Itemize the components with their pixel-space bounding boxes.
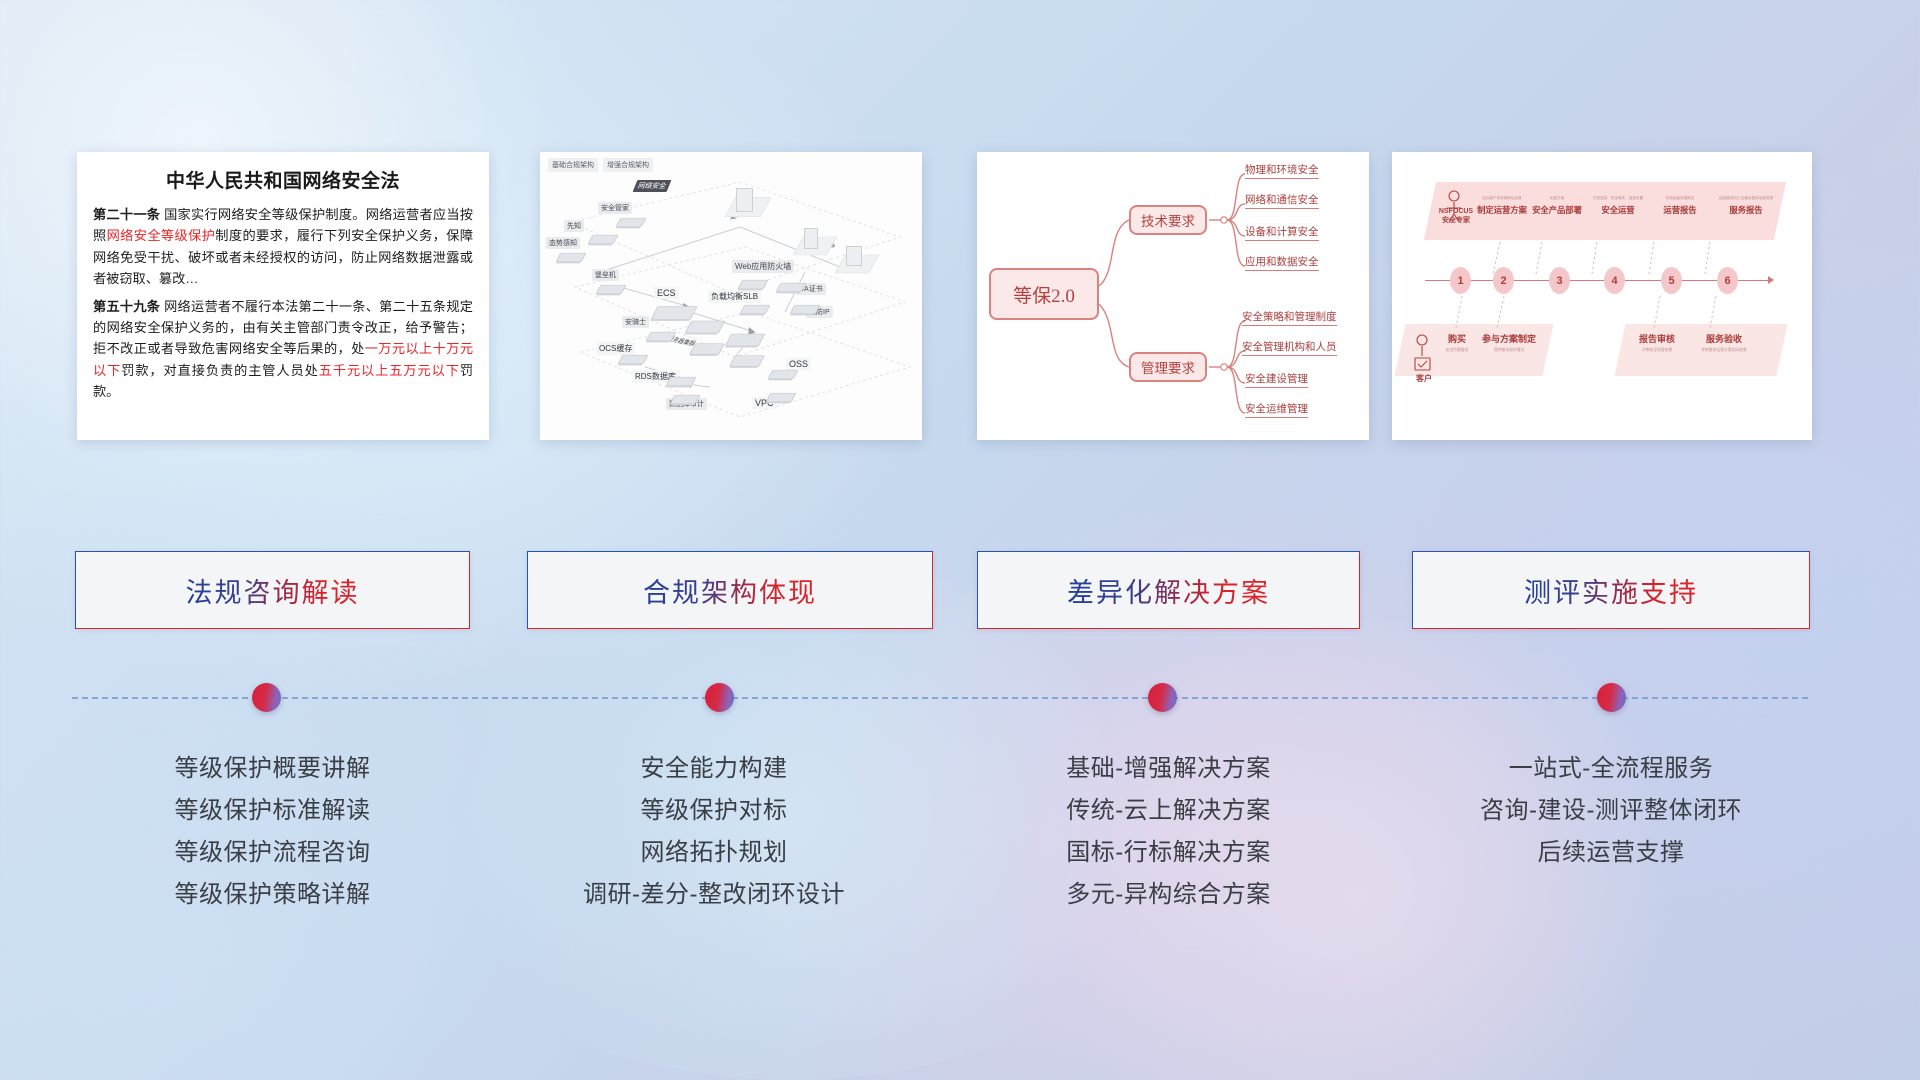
preview-card-mindmap[interactable]: 等保2.0 技术要求 管理要求 物理和环境安全 网络和通信安全 设备和计算安全 … xyxy=(977,152,1369,440)
timeline-arrow-icon xyxy=(1768,276,1774,284)
list-item: 多元-异构综合方案 xyxy=(977,874,1360,916)
section-items-2: 安全能力构建 等级保护对标 网络拓扑规划 调研-差分-整改闭环设计 xyxy=(495,748,933,916)
iso-box-ecs-5 xyxy=(729,355,765,366)
mindmap-leaf-app-data[interactable]: 应用和数据安全 xyxy=(1245,254,1319,271)
section-items-4: 一站式-全流程服务 咨询-建设-测评整体闭环 后续运营支撑 xyxy=(1392,748,1830,874)
timeline-rail-dot-3[interactable] xyxy=(1148,683,1177,712)
architecture-diagram: 基础合规架构 增强合规架构 xyxy=(540,152,922,440)
list-item: 等级保护标准解读 xyxy=(75,790,470,832)
preview-card-architecture[interactable]: 基础合规架构 增强合规架构 xyxy=(540,152,922,440)
section-items-1: 等级保护概要讲解 等级保护标准解读 等级保护流程咨询 等级保护策略详解 xyxy=(75,748,470,916)
preview-card-law[interactable]: 中华人民共和国网络安全法 第二十一条 国家实行网络安全等级保护制度。网络运营者应… xyxy=(77,152,489,440)
mindmap-collapse-toggle-mgmt xyxy=(1221,364,1227,370)
mindmap-diagram: 等保2.0 技术要求 管理要求 物理和环境安全 网络和通信安全 设备和计算安全 … xyxy=(977,152,1369,440)
iso-box-xianzhi xyxy=(588,235,619,244)
mindmap-leaf-ops-mgmt[interactable]: 安全运维管理 xyxy=(1245,401,1308,418)
mindmap-branch-technical[interactable]: 技术要求 xyxy=(1129,205,1207,235)
list-item: 后续运营支撑 xyxy=(1392,832,1830,874)
mindmap-branch-management[interactable]: 管理要求 xyxy=(1129,352,1207,382)
iso-box-ca xyxy=(776,283,807,292)
iso-box-waf xyxy=(738,280,769,289)
timeline-bottom-step-1-title: 购买 xyxy=(1434,332,1480,345)
timeline-bottom-step-2[interactable]: 参与方案制定 提供基本现状情况 xyxy=(1476,332,1542,353)
iso-box-ecs xyxy=(650,306,697,320)
iso-box-anqishi xyxy=(646,332,677,341)
timeline-top-step-6[interactable]: 结束服务后汇总输出整体运营效果 服务报告 xyxy=(1704,196,1788,216)
section-title-box-4[interactable]: 测评实施支持 xyxy=(1412,551,1810,629)
mindmap-leaf-policy-system[interactable]: 安全策略和管理制度 xyxy=(1242,309,1337,326)
iso-box-butler xyxy=(616,218,647,227)
list-item: 调研-差分-整改闭环设计 xyxy=(495,874,933,916)
mindmap-collapse-toggle-tech xyxy=(1221,217,1227,223)
list-item: 安全能力构建 xyxy=(495,748,933,790)
section-title-box-2[interactable]: 合规架构体现 xyxy=(527,551,933,629)
timeline-bottom-step-1-caption: 安全所需服务 xyxy=(1434,348,1480,353)
law-document: 中华人民共和国网络安全法 第二十一条 国家实行网络安全等级保护制度。网络运营者应… xyxy=(77,152,489,418)
list-item: 网络拓扑规划 xyxy=(495,832,933,874)
list-item: 基础-增强解决方案 xyxy=(977,748,1360,790)
service-timeline-diagram: NSFOCUS 安全专家 客户 结合客户现状调研后出具 制定运营方案 实施方案 … xyxy=(1392,152,1812,440)
law-article-21: 第二十一条 国家实行网络安全等级保护制度。网络运营者应当按照网络安全等级保护制度… xyxy=(93,204,473,290)
section-title-box-1[interactable]: 法规咨询解读 xyxy=(75,551,470,629)
timeline-bottom-step-5-caption: 评审安全所需效果 xyxy=(1630,348,1684,353)
section-title-2: 合规架构体现 xyxy=(643,571,817,610)
iso-box-situational xyxy=(556,253,587,262)
list-item: 咨询-建设-测评整体闭环 xyxy=(1392,790,1830,832)
timeline-node-5[interactable]: 5 xyxy=(1661,267,1682,294)
section-title-4: 测评实施支持 xyxy=(1524,571,1698,610)
article-59-highlight-b: 五千元以上五万元以下 xyxy=(319,363,460,378)
section-title-3: 差异化解决方案 xyxy=(1067,571,1270,610)
article-21-highlight: 网络安全等级保护 xyxy=(107,228,216,243)
timeline-bottom-step-5-title: 报告审核 xyxy=(1630,332,1684,345)
iso-box-db-audit xyxy=(670,395,701,404)
node-label-situational-awareness: 态势感知 xyxy=(546,237,580,249)
timeline-rail-dot-2[interactable] xyxy=(705,683,734,712)
timeline-bottom-step-2-caption: 提供基本现状情况 xyxy=(1476,348,1542,353)
timeline-rail xyxy=(72,697,1808,699)
timeline-bottom-step-6[interactable]: 服务验收 评审整体运营方案实际效果 xyxy=(1690,332,1758,353)
iso-box-slb xyxy=(740,305,771,314)
article-59-label: 第五十九条 xyxy=(93,299,160,314)
node-label-slb: 负载均衡SLB xyxy=(708,290,761,303)
timeline-node-2[interactable]: 2 xyxy=(1493,267,1514,294)
iso-box-bastion xyxy=(596,285,627,294)
node-label-security-butler: 安全管家 xyxy=(598,202,632,214)
iso-box-rds xyxy=(666,377,697,386)
node-label-xianzhi: 先知 xyxy=(564,220,584,232)
timeline-node-6[interactable]: 6 xyxy=(1717,267,1738,294)
mindmap-leaf-device-compute[interactable]: 设备和计算安全 xyxy=(1245,224,1319,241)
article-59-body-b: 罚款，对直接负责的主管人员处 xyxy=(121,363,319,378)
law-article-59: 第五十九条 网络运营者不履行本法第二十一条、第二十五条规定的网络安全保护义务的，… xyxy=(93,296,473,403)
node-label-waf: Web应用防火墙 xyxy=(732,260,794,273)
timeline-rail-dot-4[interactable] xyxy=(1597,683,1626,712)
iso-box-ecs-3 xyxy=(689,343,725,354)
article-21-label: 第二十一条 xyxy=(93,207,160,222)
iso-box-ecs-2 xyxy=(685,321,726,333)
timeline-top-step-6-caption: 结束服务后汇总输出整体运营效果 xyxy=(1704,196,1788,201)
mindmap-leaf-physical-env[interactable]: 物理和环境安全 xyxy=(1245,162,1319,179)
mindmap-leaf-org-personnel[interactable]: 安全管理机构和人员 xyxy=(1242,339,1337,356)
node-label-anqishi: 安骑士 xyxy=(622,316,649,328)
timeline-top-step-6-title: 服务报告 xyxy=(1704,204,1788,216)
mindmap-leaf-construction-mgmt[interactable]: 安全建设管理 xyxy=(1245,371,1308,388)
list-item: 等级保护策略详解 xyxy=(75,874,470,916)
list-item: 等级保护流程咨询 xyxy=(75,832,470,874)
iso-server-ops xyxy=(736,188,753,212)
timeline-bottom-step-2-title: 参与方案制定 xyxy=(1476,332,1542,345)
timeline-bottom-step-6-caption: 评审整体运营方案实际效果 xyxy=(1690,348,1758,353)
list-item: 等级保护概要讲解 xyxy=(75,748,470,790)
timeline-node-1[interactable]: 1 xyxy=(1450,267,1471,294)
node-label-ecs: ECS xyxy=(654,287,679,299)
content-root: 中华人民共和国网络安全法 第二十一条 国家实行网络安全等级保护制度。网络运营者应… xyxy=(0,0,1920,1080)
section-items-3: 基础-增强解决方案 传统-云上解决方案 国标-行标解决方案 多元-异构综合方案 xyxy=(977,748,1360,916)
timeline-node-3[interactable]: 3 xyxy=(1549,267,1570,294)
timeline-bottom-step-6-title: 服务验收 xyxy=(1690,332,1758,345)
mindmap-leaf-network-comm[interactable]: 网络和通信安全 xyxy=(1245,192,1319,209)
iso-box-ocs xyxy=(618,355,649,364)
mindmap-root-node[interactable]: 等保2.0 xyxy=(989,268,1099,320)
timeline-bottom-step-1[interactable]: 购买 安全所需服务 xyxy=(1434,332,1480,353)
timeline-rail-dot-1[interactable] xyxy=(252,683,281,712)
timeline-bottom-step-5[interactable]: 报告审核 评审安全所需效果 xyxy=(1630,332,1684,353)
iso-box-anti-ddos xyxy=(790,305,821,314)
iso-box-ecs-4 xyxy=(725,334,766,346)
iso-server-mobile xyxy=(804,228,818,249)
law-title: 中华人民共和国网络安全法 xyxy=(93,166,473,193)
node-label-oss: OSS xyxy=(786,358,811,370)
iso-box-oss xyxy=(768,370,799,379)
list-item: 国标-行标解决方案 xyxy=(977,832,1360,874)
node-label-network-security: 网络安全 xyxy=(633,180,672,192)
list-item: 一站式-全流程服务 xyxy=(1392,748,1830,790)
section-title-1: 法规咨询解读 xyxy=(186,571,360,610)
timeline-customer-label: 客户 xyxy=(1406,374,1442,384)
preview-card-service-timeline[interactable]: NSFOCUS 安全专家 客户 结合客户现状调研后出具 制定运营方案 实施方案 … xyxy=(1392,152,1812,440)
timeline-expert-line2: 安全专家 xyxy=(1442,217,1470,224)
iso-server-pc xyxy=(846,246,862,266)
timeline-node-4[interactable]: 4 xyxy=(1604,267,1625,294)
list-item: 传统-云上解决方案 xyxy=(977,790,1360,832)
iso-box-vpc xyxy=(766,393,797,402)
node-label-bastion-host: 堡垒机 xyxy=(592,269,619,281)
section-title-box-3[interactable]: 差异化解决方案 xyxy=(977,551,1360,629)
node-label-ocs-cache: OCS缓存 xyxy=(596,342,635,355)
list-item: 等级保护对标 xyxy=(495,790,933,832)
